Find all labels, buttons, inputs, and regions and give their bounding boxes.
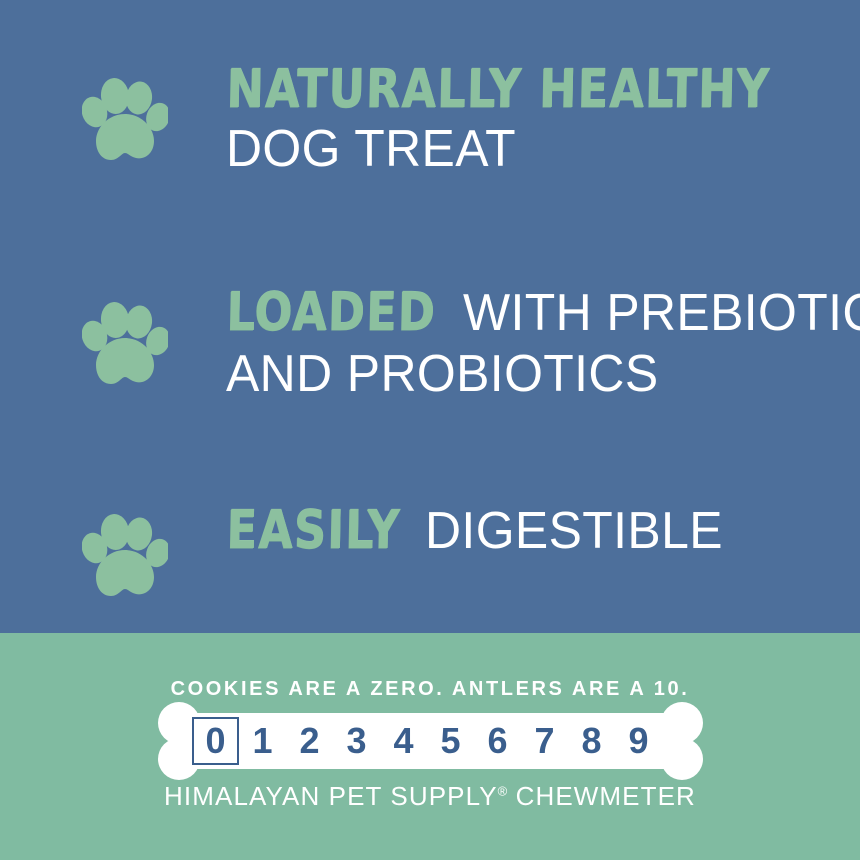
feature-accent-text: EASILY: [226, 500, 401, 561]
paw-print-icon: [82, 74, 168, 170]
chewmeter-scale-value-1[interactable]: 1: [239, 719, 286, 763]
feature-plain-text: DIGESTIBLE: [425, 501, 723, 561]
feature-item-prebiotics-probiotics: LOADEDWITH PREBIOTICS AND PROBIOTICS: [0, 282, 860, 402]
feature-text-block: LOADEDWITH PREBIOTICS AND PROBIOTICS: [226, 282, 860, 402]
product-feature-poster: NATURALLY HEALTHY DOG TREAT LOADEDW: [0, 0, 860, 860]
feature-text-block: NATURALLY HEALTHY DOG TREAT: [226, 62, 860, 177]
chewmeter-scale-value-5[interactable]: 5: [427, 719, 474, 763]
chewmeter-footer: HIMALAYAN PET SUPPLY® CHEWMETER: [0, 781, 860, 812]
paw-print-icon: [82, 510, 168, 606]
chewmeter-scale: 0 1 2 3 4 5 6 7 8 9: [192, 714, 669, 768]
feature-plain-text: DOG TREAT: [226, 122, 516, 177]
feature-accent-text: LOADED: [226, 282, 437, 343]
feature-accent-plain-row: EASILYDIGESTIBLE: [226, 500, 820, 561]
feature-plain-line: DOG TREAT: [226, 122, 820, 177]
chewmeter-footer-label: CHEWMETER: [507, 781, 696, 811]
chewmeter-scale-value-9[interactable]: 9: [615, 719, 662, 763]
chewmeter-scale-value-7[interactable]: 7: [521, 719, 568, 763]
feature-plain-text: WITH PREBIOTICS: [463, 283, 860, 343]
feature-item-easily-digestible: EASILYDIGESTIBLE: [0, 500, 860, 606]
chewmeter-bone-graphic: 0 1 2 3 4 5 6 7 8 9: [158, 705, 703, 777]
feature-plain-line-2: AND PROBIOTICS: [226, 347, 860, 402]
chewmeter-scale-value-2[interactable]: 2: [286, 719, 333, 763]
chewmeter-brand-name: HIMALAYAN PET SUPPLY: [164, 781, 498, 811]
registered-trademark-icon: ®: [498, 783, 508, 798]
chewmeter-scale-value-6[interactable]: 6: [474, 719, 521, 763]
chewmeter-scale-value-0[interactable]: 0: [192, 717, 239, 765]
feature-plain-text-2: AND PROBIOTICS: [226, 347, 659, 402]
feature-item-naturally-healthy: NATURALLY HEALTHY DOG TREAT: [0, 62, 860, 177]
feature-accent-text: NATURALLY HEALTHY: [226, 62, 771, 118]
chewmeter-scale-value-3[interactable]: 3: [333, 719, 380, 763]
chewmeter-tagline: COOKIES ARE A ZERO. ANTLERS ARE A 10.: [0, 678, 860, 701]
features-panel: NATURALLY HEALTHY DOG TREAT LOADEDW: [0, 0, 860, 633]
chewmeter-scale-value-4[interactable]: 4: [380, 719, 427, 763]
feature-accent-plain-row: LOADEDWITH PREBIOTICS: [226, 282, 860, 343]
chewmeter-scale-value-8[interactable]: 8: [568, 719, 615, 763]
feature-accent-line: NATURALLY HEALTHY: [226, 62, 820, 118]
paw-print-icon: [82, 298, 168, 394]
feature-text-block: EASILYDIGESTIBLE: [226, 500, 860, 563]
